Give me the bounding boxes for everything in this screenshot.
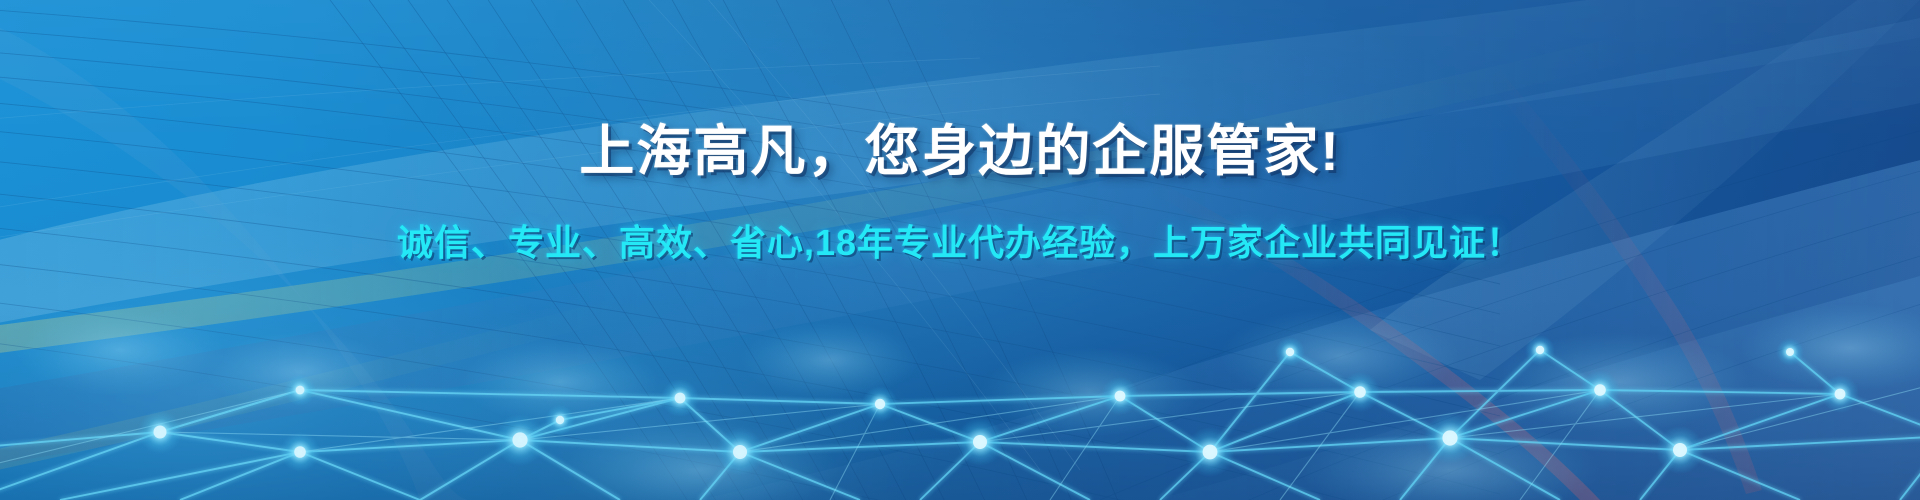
banner-content: 上海高凡，您身边的企服管家! 诚信、专业、高效、省心,18年专业代办经验，上万家… <box>0 0 1920 500</box>
banner-subheadline: 诚信、专业、高效、省心,18年专业代办经验，上万家企业共同见证！ <box>397 223 1523 263</box>
banner-headline: 上海高凡，您身边的企服管家! <box>579 122 1340 181</box>
promotional-banner: 上海高凡，您身边的企服管家! 诚信、专业、高效、省心,18年专业代办经验，上万家… <box>0 0 1920 500</box>
